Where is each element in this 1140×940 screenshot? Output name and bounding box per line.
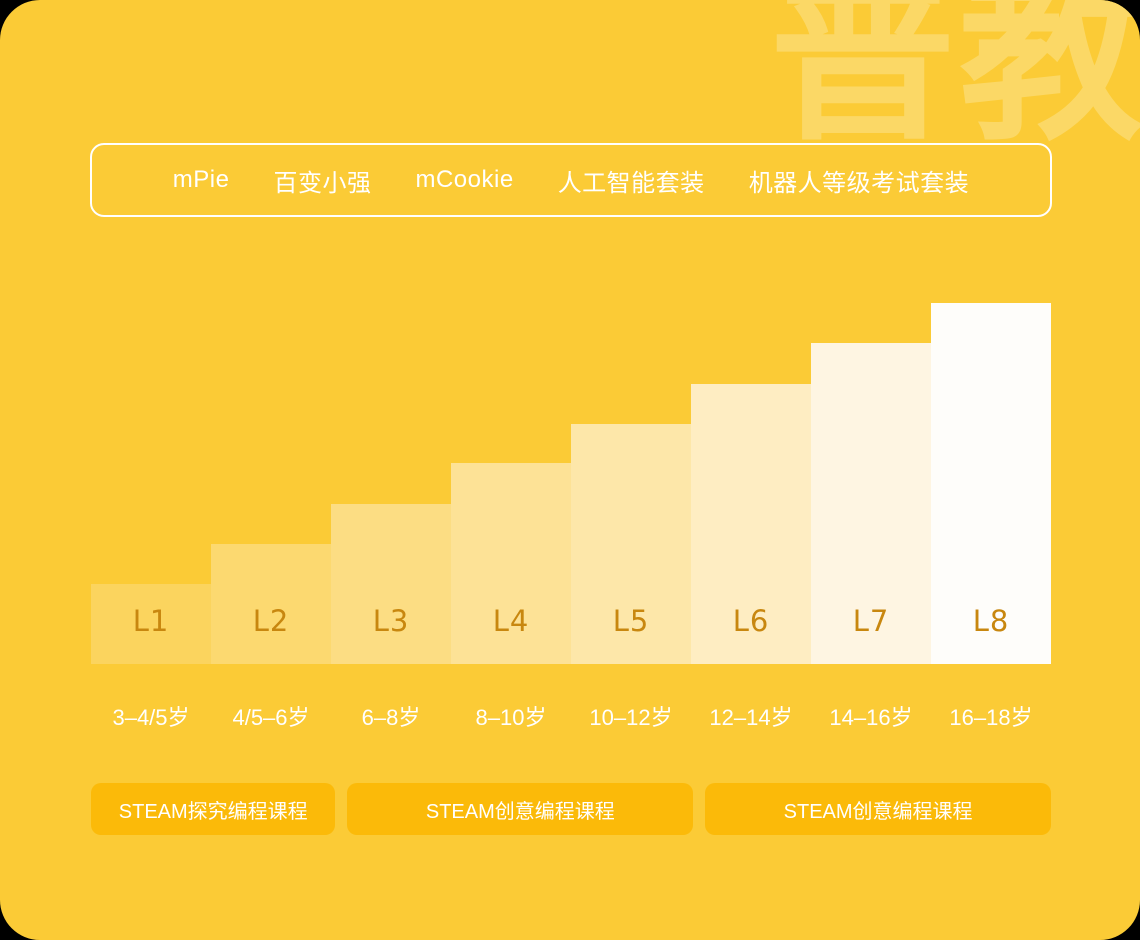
bar-label-l8: L8 — [973, 604, 1010, 664]
level-bar-chart: L1 L2 L3 L4 L5 L6 L7 L8 — [91, 280, 1051, 664]
age-label-3: 8–10岁 — [451, 700, 571, 732]
bar-label-l4: L4 — [493, 604, 530, 664]
bar-label-l2: L2 — [253, 604, 290, 664]
course-pill-1[interactable]: STEAM创意编程课程 — [347, 783, 693, 835]
bar-l3[interactable]: L3 — [331, 504, 451, 664]
bar-l5[interactable]: L5 — [571, 424, 691, 664]
bar-l7[interactable]: L7 — [811, 343, 931, 664]
bar-l6[interactable]: L6 — [691, 384, 811, 664]
age-label-0: 3–4/5岁 — [91, 700, 211, 732]
nav-item-2[interactable]: mCookie — [393, 166, 535, 194]
course-pill-2[interactable]: STEAM创意编程课程 — [705, 783, 1051, 835]
course-pill-row: STEAM探究编程课程 STEAM创意编程课程 STEAM创意编程课程 — [91, 783, 1051, 835]
watermark-text: 普教 — [770, 0, 1140, 151]
age-label-4: 10–12岁 — [571, 700, 691, 732]
nav-item-4[interactable]: 机器人等级考试套装 — [727, 163, 992, 198]
course-pill-0[interactable]: STEAM探究编程课程 — [91, 783, 335, 835]
product-nav-bar: mPie 百变小强 mCookie 人工智能套装 机器人等级考试套装 — [90, 143, 1052, 217]
age-label-1: 4/5–6岁 — [211, 700, 331, 732]
age-label-2: 6–8岁 — [331, 700, 451, 732]
age-label-7: 16–18岁 — [931, 700, 1051, 732]
age-range-row: 3–4/5岁 4/5–6岁 6–8岁 8–10岁 10–12岁 12–14岁 1… — [91, 700, 1051, 732]
nav-item-1[interactable]: 百变小强 — [251, 163, 393, 198]
bar-l8[interactable]: L8 — [931, 303, 1051, 664]
age-label-6: 14–16岁 — [811, 700, 931, 732]
bar-label-l6: L6 — [733, 604, 770, 664]
age-label-5: 12–14岁 — [691, 700, 811, 732]
bar-label-l1: L1 — [133, 604, 170, 664]
nav-item-3[interactable]: 人工智能套装 — [536, 163, 727, 198]
bar-label-l5: L5 — [613, 604, 650, 664]
course-level-card: 普教 mPie 百变小强 mCookie 人工智能套装 机器人等级考试套装 L1… — [0, 0, 1140, 940]
bar-label-l7: L7 — [853, 604, 890, 664]
bar-l4[interactable]: L4 — [451, 463, 571, 664]
bar-label-l3: L3 — [373, 604, 410, 664]
bar-l1[interactable]: L1 — [91, 584, 211, 664]
nav-item-0[interactable]: mPie — [151, 166, 252, 194]
bar-l2[interactable]: L2 — [211, 544, 331, 664]
